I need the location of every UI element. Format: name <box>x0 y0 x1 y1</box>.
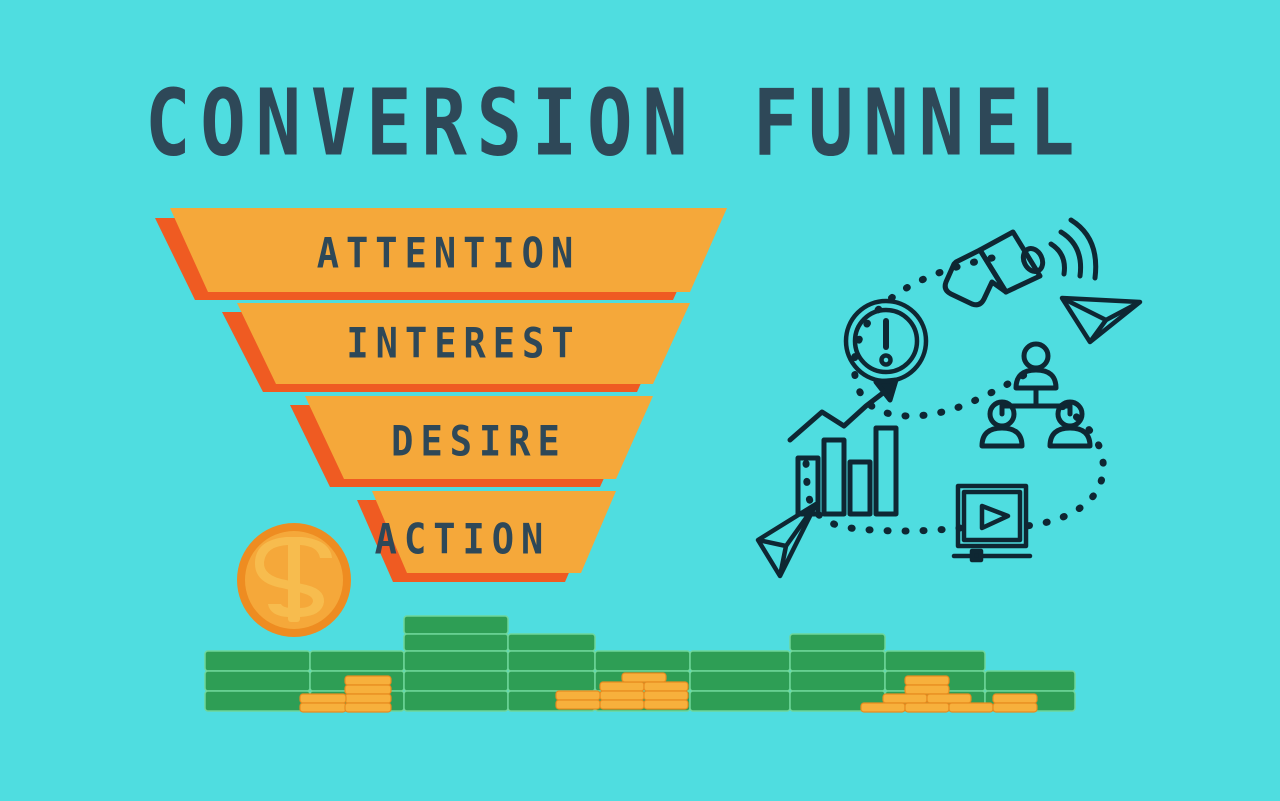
coin-stack-piece <box>905 685 949 694</box>
coin-stack-piece <box>644 691 688 700</box>
cash-brick <box>790 671 885 691</box>
coin-stack-piece <box>861 703 905 712</box>
cash-brick <box>985 691 1075 711</box>
cash-brick <box>885 651 985 671</box>
cash-brick <box>508 671 595 691</box>
funnel-stage-desire-label: DESIRE <box>305 417 653 465</box>
cash-brick <box>595 671 690 691</box>
coin-stack-piece <box>345 703 391 712</box>
cash-brick <box>404 651 508 671</box>
coin-face <box>245 531 343 629</box>
cash-brick <box>205 691 310 711</box>
coin-stack-piece <box>905 703 949 712</box>
dotted-path-lower <box>806 454 960 531</box>
coin-stack-piece <box>905 676 949 685</box>
cash-brick <box>790 691 885 711</box>
cash-brick <box>404 634 508 651</box>
coin-stack-piece <box>556 691 600 700</box>
marketing-icon-cluster <box>740 210 1160 590</box>
coin-stack-piece <box>883 694 927 703</box>
cash-brick <box>690 691 790 711</box>
coin-stack-piece <box>927 694 971 703</box>
coin-dollar-symbol <box>255 537 332 622</box>
page-title: CONVERSION FUNNEL <box>145 78 1144 170</box>
funnel-stage-interest-label: INTEREST <box>237 319 690 367</box>
cash-brick <box>205 671 310 691</box>
funnel-stage-attention-label: ATTENTION <box>170 229 727 277</box>
cash-brick <box>885 671 985 691</box>
coin-stack-piece <box>993 694 1037 703</box>
megaphone-icon[interactable] <box>945 220 1096 305</box>
funnel-stage-action-label: ACTION <box>330 515 595 563</box>
coin-stack-piece <box>556 700 600 709</box>
cash-brick <box>310 691 404 711</box>
cash-brick <box>404 691 508 711</box>
paper-plane-icon[interactable] <box>1062 298 1140 342</box>
cash-brick <box>508 691 595 711</box>
org-chart-icon[interactable] <box>982 344 1090 446</box>
cash-brick <box>985 671 1075 691</box>
cash-brick <box>690 671 790 691</box>
cash-brick <box>595 691 690 711</box>
coin-stack-piece <box>300 694 346 703</box>
coin-stack-piece <box>622 673 666 682</box>
coin-stack-piece <box>993 703 1037 712</box>
coin-stack-piece <box>600 691 644 700</box>
cash-brick <box>508 634 595 651</box>
coin-stack-piece <box>600 700 644 709</box>
coin-stack-piece <box>300 703 346 712</box>
cash-brick <box>508 651 595 671</box>
cash-brick <box>790 634 885 651</box>
cash-brick <box>690 651 790 671</box>
cash-brick <box>595 651 690 671</box>
coin-stack-piece <box>644 682 688 691</box>
paper-plane-alt-icon[interactable] <box>758 504 816 576</box>
cash-brick <box>205 651 310 671</box>
coin-stack-piece <box>345 676 391 685</box>
gold-coin-piles <box>300 673 1037 712</box>
cash-brick <box>790 651 885 671</box>
cash-brick <box>885 691 985 711</box>
coin-stack-piece <box>345 694 391 703</box>
coin-stack-piece <box>644 700 688 709</box>
cash-brick <box>310 651 404 671</box>
coin-stack-piece <box>345 685 391 694</box>
coin-stack-piece <box>949 703 993 712</box>
video-player-icon[interactable] <box>954 486 1030 560</box>
infographic-canvas: CONVERSION FUNNEL ATTENTION INTEREST DES… <box>0 0 1280 801</box>
bar-chart-icon[interactable] <box>790 380 896 514</box>
cash-brick <box>404 671 508 691</box>
cash-brick-stack <box>205 616 1075 711</box>
cash-brick <box>310 671 404 691</box>
coin-stack-piece <box>600 682 644 691</box>
cash-brick <box>404 616 508 634</box>
